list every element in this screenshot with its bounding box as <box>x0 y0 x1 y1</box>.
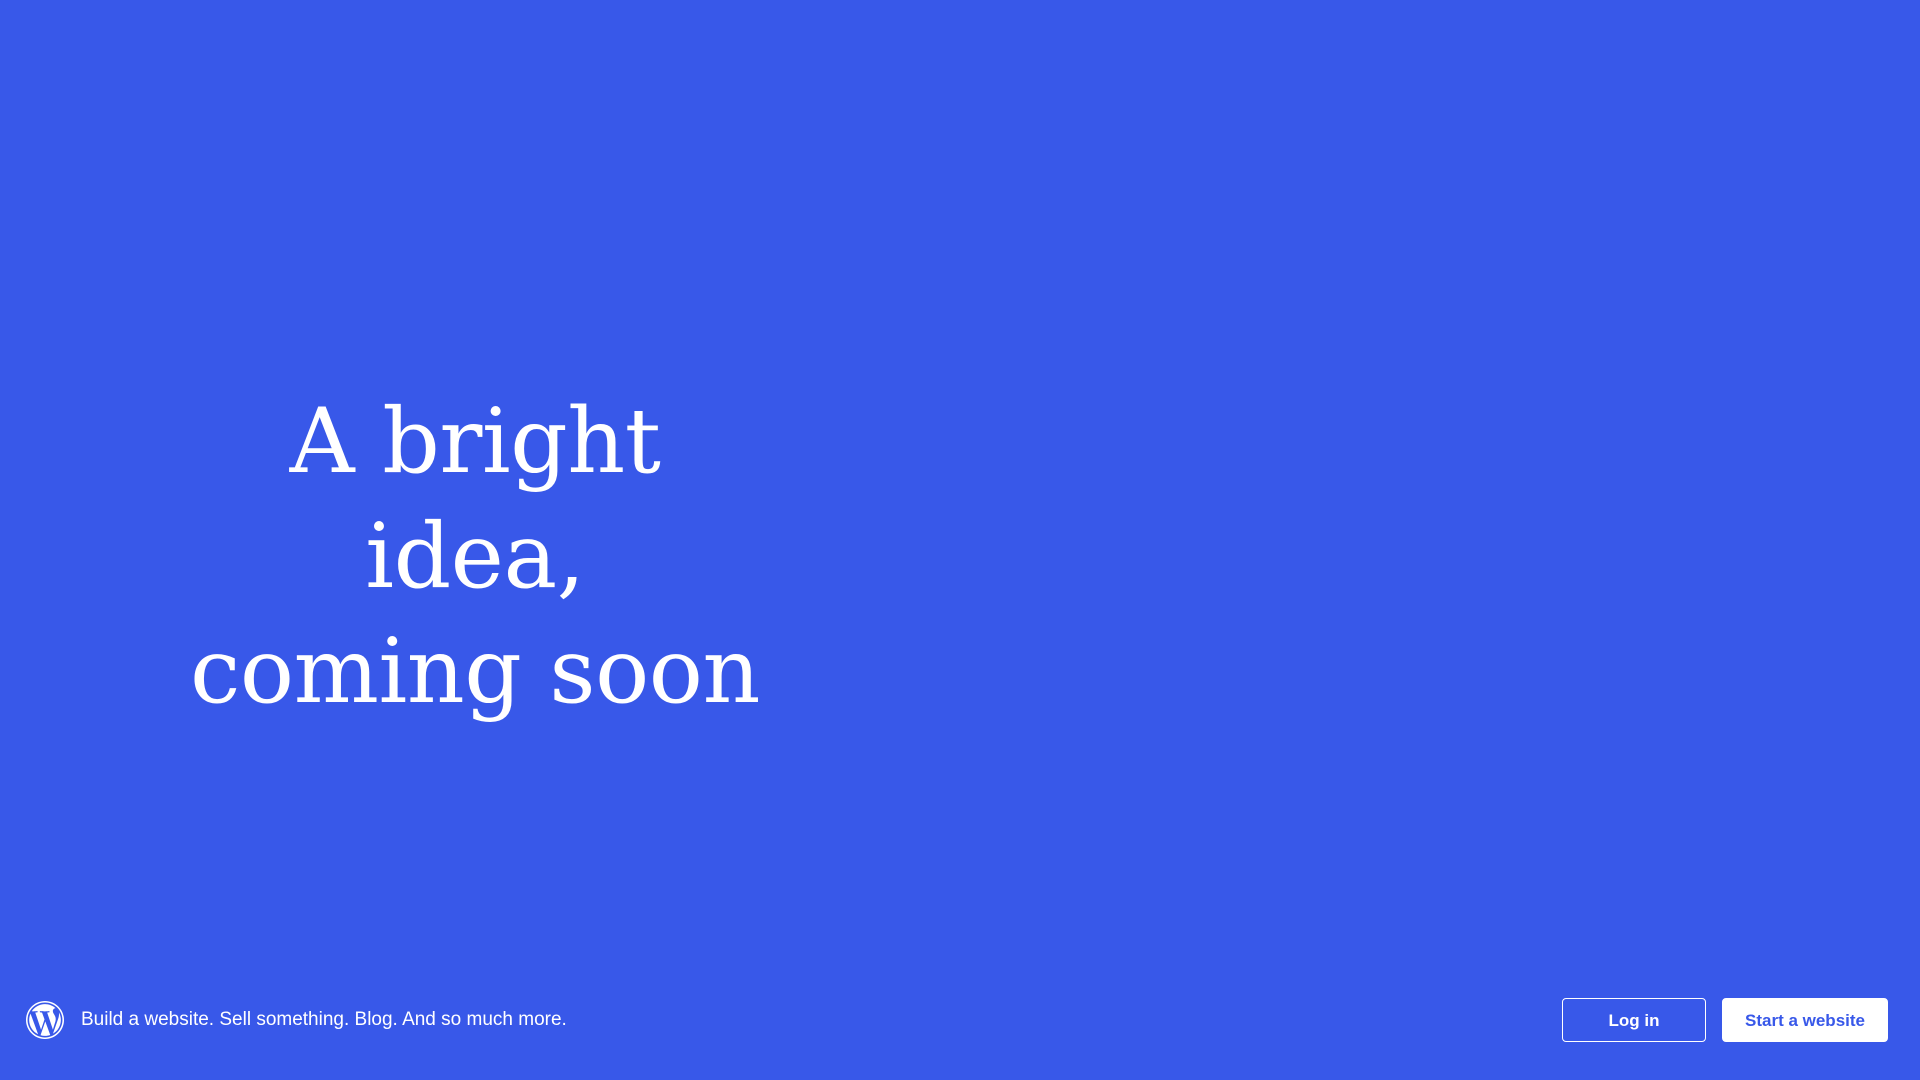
footer-bar: Build a website. Sell something. Blog. A… <box>0 960 1920 1080</box>
page-title: A bright idea, coming soon <box>185 384 765 729</box>
coming-soon-page: A bright idea, coming soon Build a websi… <box>0 0 1920 1080</box>
footer-actions: Log in Start a website <box>1562 998 1888 1042</box>
hero-content: A bright idea, coming soon <box>185 384 765 729</box>
footer-branding: Build a website. Sell something. Blog. A… <box>26 1001 1544 1039</box>
hero-section: A bright idea, coming soon <box>0 0 1920 960</box>
wordpress-logo-icon <box>26 1001 64 1039</box>
login-button[interactable]: Log in <box>1562 998 1706 1042</box>
start-a-website-button[interactable]: Start a website <box>1722 998 1888 1042</box>
footer-tagline: Build a website. Sell something. Blog. A… <box>81 1008 567 1032</box>
